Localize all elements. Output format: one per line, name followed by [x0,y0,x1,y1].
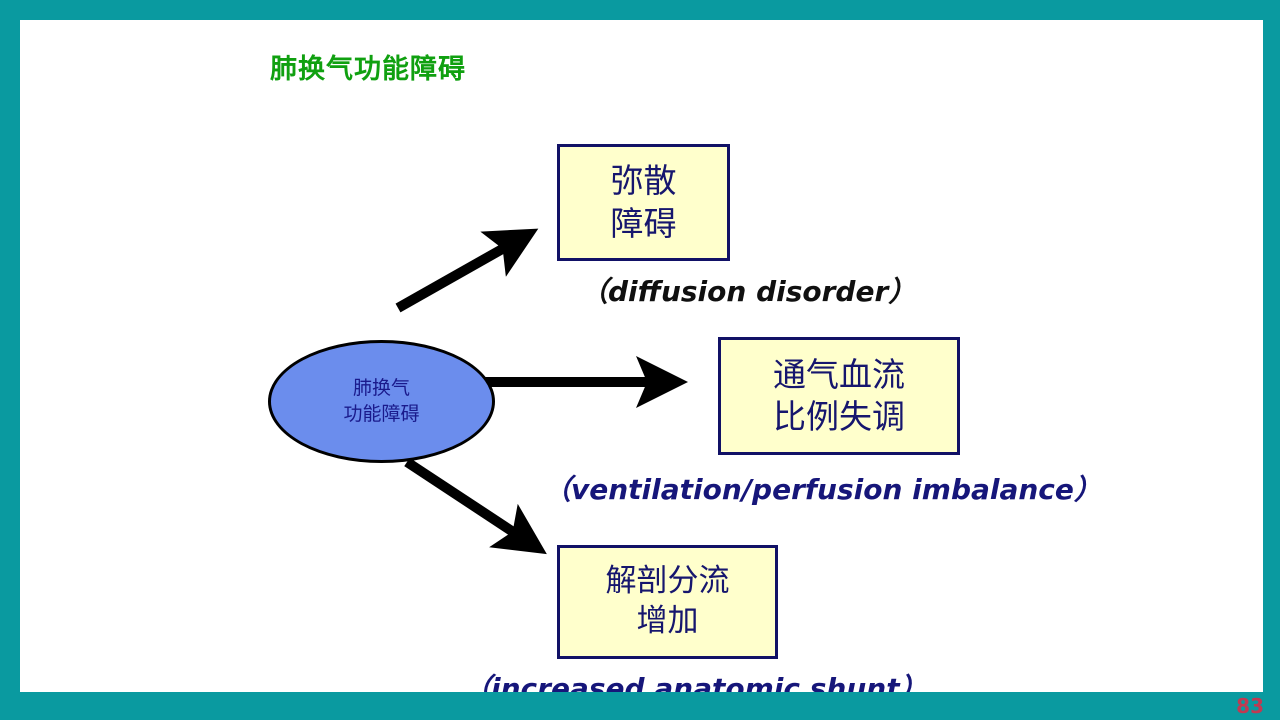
slide-frame: 肺换气功能障碍 肺换气 功能障碍 弥散 障碍 （diffusion disord… [0,0,1280,720]
root-node-label-line1: 肺换气 [353,376,410,401]
root-node-ellipse: 肺换气 功能障碍 [268,340,495,463]
arrow-to-shunt [407,462,536,547]
node-box-line1: 弥散 [611,160,677,202]
caption-ventilation-perfusion-imbalance: （ventilation/perfusion imbalance） [543,468,1102,508]
page-title: 肺换气功能障碍 [270,47,466,86]
slide-canvas: 肺换气功能障碍 肺换气 功能障碍 弥散 障碍 （diffusion disord… [20,20,1263,692]
node-box-diffusion-disorder: 弥散 障碍 [557,144,730,261]
node-box-line2: 增加 [637,602,699,642]
node-box-line1: 通气血流 [773,354,905,396]
page-number: 83 [1236,694,1264,718]
node-box-anatomic-shunt: 解剖分流 增加 [557,545,778,659]
node-box-ventilation-perfusion: 通气血流 比例失调 [718,337,960,455]
node-box-line2: 比例失调 [773,396,905,438]
caption-increased-anatomic-shunt: （increased anatomic shunt） [463,667,928,692]
caption-diffusion-disorder: （diffusion disorder） [580,270,916,310]
arrow-to-diffusion [398,235,527,308]
root-node-label-line2: 功能障碍 [343,402,419,427]
node-box-line2: 障碍 [611,203,677,245]
node-box-line1: 解剖分流 [606,562,730,602]
